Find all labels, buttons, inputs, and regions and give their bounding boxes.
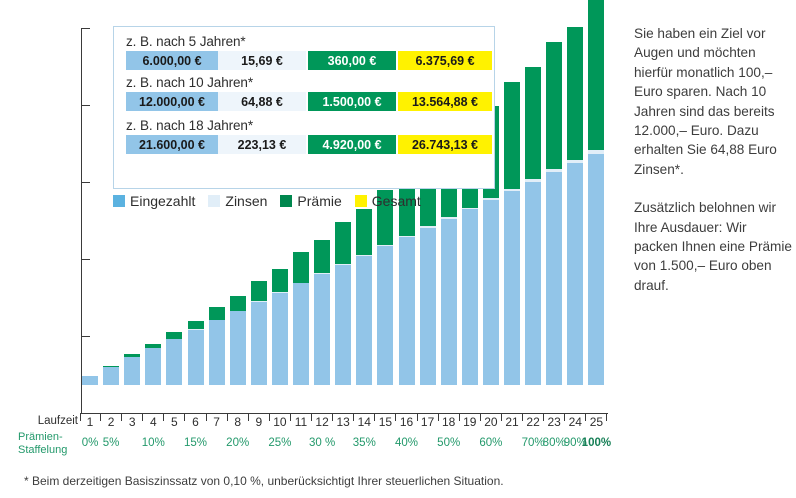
secondary-axis-tick-label: 15%	[179, 437, 213, 449]
value-zinsen: 223,13 €	[218, 135, 306, 154]
bar-segment-eingezahlt	[145, 348, 161, 385]
bar	[251, 281, 267, 385]
bar-segment-eingezahlt	[188, 330, 204, 385]
bar	[188, 321, 204, 385]
legend-item: Zinsen	[208, 193, 267, 209]
value-zinsen: 64,88 €	[218, 92, 306, 111]
footnote: * Beim derzeitigen Basiszinssatz von 0,1…	[24, 474, 504, 488]
chart-legend: EingezahltZinsenPrämieGesamt	[113, 193, 434, 209]
bar-segment-praemie	[251, 281, 267, 302]
bar-segment-eingezahlt	[293, 283, 309, 385]
bar-segment-eingezahlt	[124, 357, 140, 385]
secondary-axis-tick-label: 60%	[474, 437, 508, 449]
value-gesamt: 26.743,13 €	[398, 135, 492, 154]
value-eingezahlt: 6.000,00 €	[126, 51, 218, 70]
bar-segment-praemie	[188, 321, 204, 329]
bar	[82, 376, 98, 385]
value-praemie: 360,00 €	[308, 51, 396, 70]
x-axis-tick	[80, 413, 81, 421]
secondary-axis-tick-label: 40%	[390, 437, 424, 449]
bar	[420, 156, 436, 385]
side-paragraph-2: Zusätzlich belohnen wir Ihre Ausdauer: W…	[634, 198, 794, 295]
bar	[588, 0, 604, 385]
bar-segment-eingezahlt	[272, 293, 288, 385]
bar-segment-eingezahlt	[420, 228, 436, 385]
bar-segment-eingezahlt	[525, 182, 541, 385]
value-gesamt: 6.375,69 €	[398, 51, 492, 70]
y-axis-tick	[81, 28, 90, 29]
y-axis-tick	[81, 336, 90, 337]
bar-chart: 010.00020.00030.00040.00050.000 12345678…	[0, 0, 620, 470]
bar-segment-praemie	[293, 252, 309, 282]
bar	[525, 67, 541, 385]
bar	[314, 240, 330, 385]
example-values-box: z. B. nach 5 Jahren* 6.000,00 € 15,69 € …	[113, 26, 495, 189]
bar-segment-eingezahlt	[546, 172, 562, 385]
example-row-title: z. B. nach 18 Jahren*	[126, 118, 494, 133]
x-axis-title: Laufzeit	[20, 415, 78, 427]
bar-segment-praemie	[335, 222, 351, 264]
bar-segment-eingezahlt	[335, 265, 351, 385]
bar-segment-eingezahlt	[230, 311, 246, 385]
bar	[272, 269, 288, 385]
y-axis-tick	[81, 259, 90, 260]
secondary-axis-tick-label: 10%	[136, 437, 170, 449]
bar-segment-eingezahlt	[567, 163, 583, 385]
secondary-axis-tick-label: 5%	[94, 437, 128, 449]
value-eingezahlt: 21.600,00 €	[126, 135, 218, 154]
example-row-title: z. B. nach 10 Jahren*	[126, 75, 494, 90]
example-row-values: 21.600,00 € 223,13 € 4.920,00 € 26.743,1…	[126, 135, 494, 154]
bar-segment-praemie	[272, 269, 288, 292]
legend-swatch-icon	[355, 195, 367, 207]
x-axis-tick-label: 25	[584, 415, 608, 429]
bar	[209, 307, 225, 385]
side-paragraph-1: Sie haben ein Ziel vor Augen und möchten…	[634, 24, 794, 179]
bar-segment-praemie	[567, 27, 583, 160]
secondary-axis-tick-label: 20%	[221, 437, 255, 449]
legend-swatch-icon	[113, 195, 125, 207]
bar	[166, 332, 182, 385]
bar-segment-eingezahlt	[462, 209, 478, 385]
bar	[335, 222, 351, 385]
bar-segment-praemie	[314, 240, 330, 273]
bar	[103, 366, 119, 385]
bar	[504, 82, 520, 385]
bar-segment-eingezahlt	[588, 154, 604, 385]
legend-item: Eingezahlt	[113, 193, 195, 209]
y-axis-line	[81, 28, 82, 413]
example-row-18-years: z. B. nach 18 Jahren* 21.600,00 € 223,13…	[126, 118, 494, 154]
bar	[546, 42, 562, 385]
bar-segment-eingezahlt	[399, 237, 415, 385]
bar-segment-eingezahlt	[504, 191, 520, 385]
bar-segment-praemie	[230, 296, 246, 311]
legend-swatch-icon	[208, 195, 220, 207]
bar	[567, 27, 583, 385]
bar-segment-eingezahlt	[441, 219, 457, 385]
bar-segment-eingezahlt	[356, 256, 372, 385]
value-gesamt: 13.564,88 €	[398, 92, 492, 111]
bar-segment-eingezahlt	[314, 274, 330, 385]
legend-label: Zinsen	[225, 193, 267, 209]
secondary-axis-tick-label: 25%	[263, 437, 297, 449]
y-axis-tick	[81, 413, 90, 414]
bar-segment-praemie	[525, 67, 541, 179]
bar-segment-eingezahlt	[166, 339, 182, 385]
legend-label: Eingezahlt	[130, 193, 195, 209]
value-praemie: 4.920,00 €	[308, 135, 396, 154]
bar	[145, 344, 161, 385]
example-row-5-years: z. B. nach 5 Jahren* 6.000,00 € 15,69 € …	[126, 34, 494, 70]
y-axis-tick	[81, 105, 90, 106]
bar	[124, 354, 140, 385]
bar	[356, 209, 372, 385]
bar-segment-eingezahlt	[251, 302, 267, 385]
example-row-values: 12.000,00 € 64,88 € 1.500,00 € 13.564,88…	[126, 92, 494, 111]
bar-segment-praemie	[546, 42, 562, 170]
bar-segment-praemie	[166, 332, 182, 339]
example-row-title: z. B. nach 5 Jahren*	[126, 34, 494, 49]
legend-swatch-icon	[280, 195, 292, 207]
legend-item: Gesamt	[355, 193, 421, 209]
y-axis-tick	[81, 182, 90, 183]
value-praemie: 1.500,00 €	[308, 92, 396, 111]
example-row-values: 6.000,00 € 15,69 € 360,00 € 6.375,69 €	[126, 51, 494, 70]
bar-segment-eingezahlt	[103, 367, 119, 385]
bar-segment-eingezahlt	[483, 200, 499, 385]
bar-segment-eingezahlt	[209, 320, 225, 385]
bar-segment-eingezahlt	[82, 376, 98, 385]
bar-segment-praemie	[356, 209, 372, 254]
bar	[293, 252, 309, 385]
legend-label: Prämie	[297, 193, 341, 209]
secondary-axis-tick-label: 100%	[579, 437, 613, 449]
bar	[230, 296, 246, 385]
x-axis-line	[81, 413, 608, 414]
bar-segment-praemie	[588, 0, 604, 150]
bar-segment-eingezahlt	[377, 246, 393, 385]
legend-label: Gesamt	[372, 193, 421, 209]
legend-item: Prämie	[280, 193, 341, 209]
secondary-axis-tick-label: 35%	[347, 437, 381, 449]
secondary-axis-tick-label: 50%	[432, 437, 466, 449]
value-eingezahlt: 12.000,00 €	[126, 92, 218, 111]
bar	[377, 190, 393, 385]
side-text-panel: Sie haben ein Ziel vor Augen und möchten…	[634, 24, 794, 314]
secondary-axis-tick-label: 30 %	[305, 437, 339, 449]
example-row-10-years: z. B. nach 10 Jahren* 12.000,00 € 64,88 …	[126, 75, 494, 111]
secondary-axis-title: Prämien-Staffelung	[18, 431, 78, 457]
bar-segment-praemie	[504, 82, 520, 189]
bar-segment-praemie	[209, 307, 225, 320]
value-zinsen: 15,69 €	[218, 51, 306, 70]
